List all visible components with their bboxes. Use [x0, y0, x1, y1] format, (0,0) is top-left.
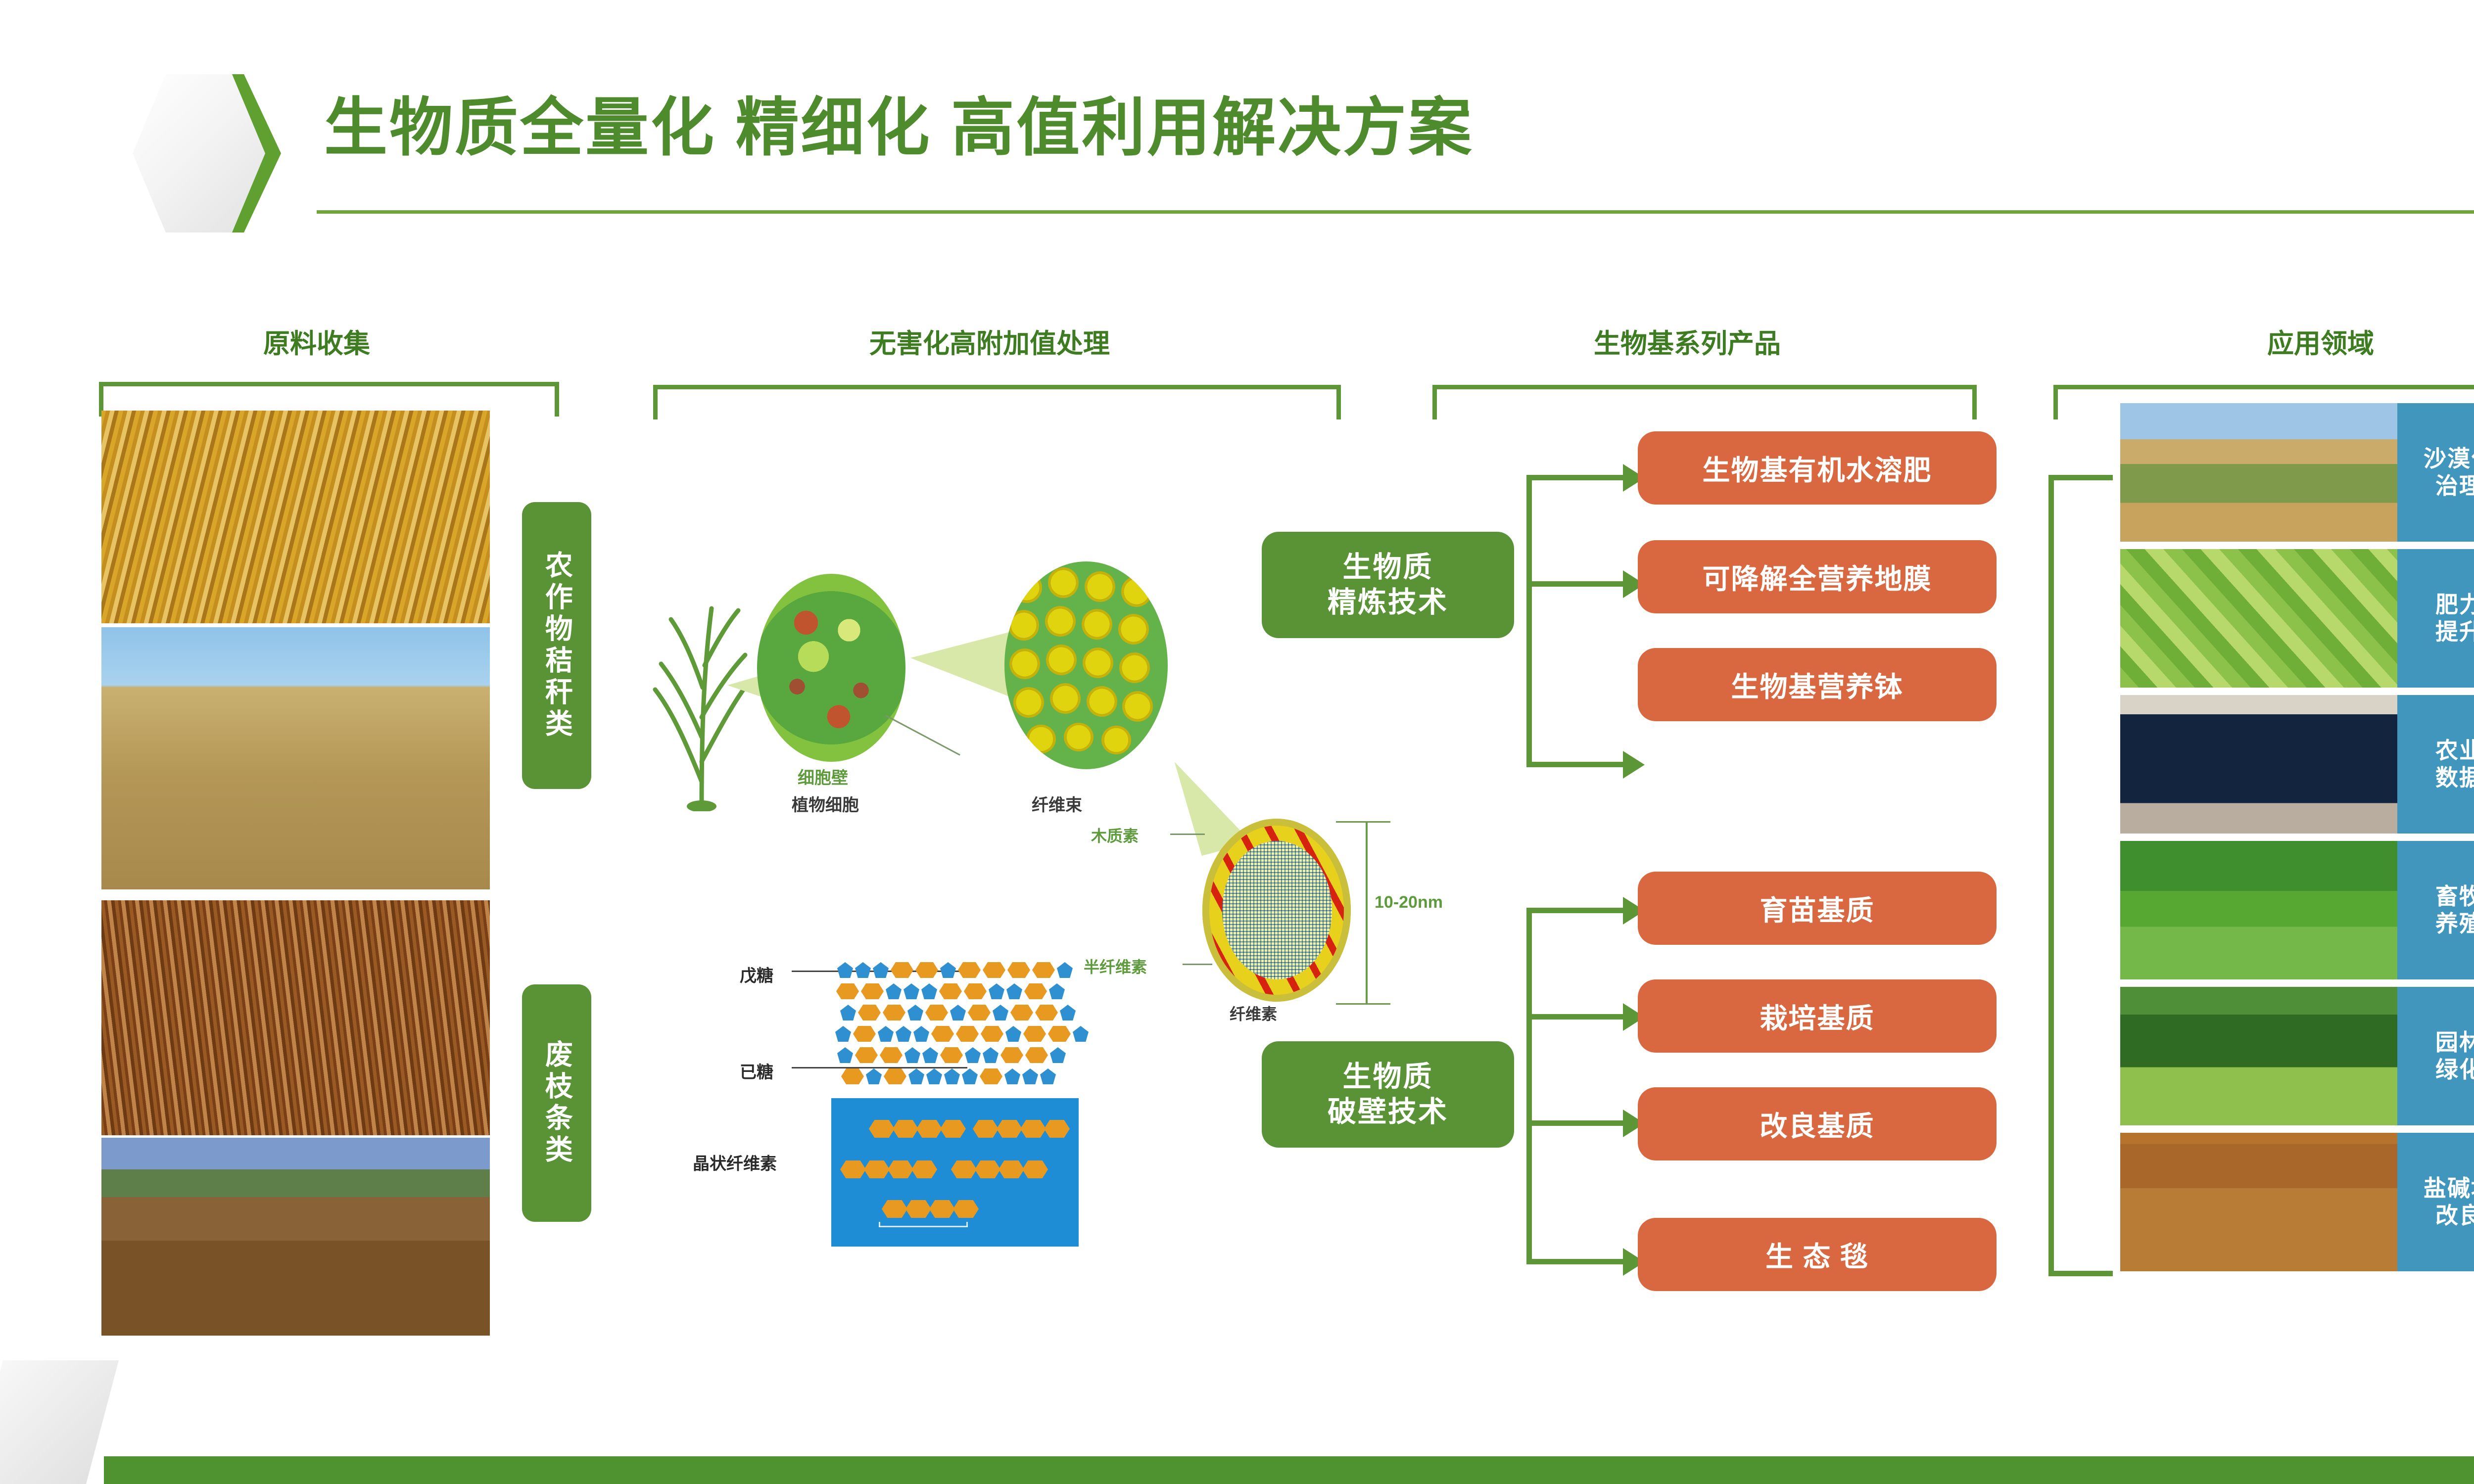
connector-branch-b3	[1526, 1120, 1625, 1126]
plant-cell-illustration	[757, 574, 905, 762]
cell-wall-leader-line	[885, 715, 960, 755]
label-pentose: 戊糖	[740, 962, 773, 986]
photo-baled-straw-field	[101, 627, 490, 889]
photo-landscaped-park	[2120, 987, 2397, 1125]
sugar-chain-row-2	[836, 983, 1067, 999]
grass-plant-icon	[643, 549, 757, 811]
application-tag-fertility: 肥力 提升	[2397, 549, 2474, 688]
connector-trunk-a	[1526, 475, 1532, 767]
app-label-landscaping-line1: 园林	[2435, 1029, 2474, 1056]
bracket-products	[1432, 385, 1977, 419]
connector-branch-b2	[1526, 1014, 1625, 1020]
bracket-application-group	[2048, 475, 2113, 1276]
app-label-agri-data-line1: 农业	[2435, 737, 2474, 764]
app-label-desertification-line2: 治理	[2435, 472, 2474, 500]
sugar-chain-row-1	[837, 962, 1075, 978]
label-dimension: 10-20nm	[1375, 893, 1443, 912]
label-lignin: 木质素	[1091, 824, 1139, 846]
application-row-landscaping[interactable]: 园林 绿化	[2120, 987, 2474, 1125]
connector-branch-b1	[1526, 908, 1625, 913]
product-box-seedling-substrate[interactable]: 育苗基质	[1638, 872, 1997, 945]
product-box-nutrient-pot[interactable]: 生物基营养钵	[1638, 648, 1997, 721]
tech-refining-line2: 精炼技术	[1328, 585, 1448, 620]
fiber-bundle-illustration	[1004, 561, 1168, 769]
tech-wall-breaking-line2: 破壁技术	[1328, 1095, 1448, 1130]
dimension-tick-bottom	[1336, 1003, 1390, 1005]
connector-branch-a2	[1526, 581, 1625, 587]
tech-box-wall-breaking[interactable]: 生物质 破壁技术	[1262, 1041, 1514, 1148]
label-crystalline-cellulose: 晶状纤维素	[693, 1150, 777, 1174]
lignin-leader-line	[1170, 834, 1205, 835]
section-label-products: 生物基系列产品	[1415, 322, 1959, 361]
arrow-a3	[1623, 751, 1645, 779]
application-tag-agri-data: 农业 数据	[2397, 695, 2474, 834]
photo-corn-straw-field	[101, 411, 490, 623]
tag-waste-branches: 废枝条类	[522, 984, 591, 1222]
crystalline-cellulose-illustration	[831, 1098, 1079, 1247]
photo-data-control-room	[2120, 695, 2397, 834]
application-tag-livestock: 畜牧 养殖	[2397, 841, 2474, 979]
application-tag-saline-alkali: 盐碱地 改良	[2397, 1133, 2474, 1271]
label-fiber-bundle: 纤维束	[1032, 791, 1082, 816]
label-plant-cell: 植物细胞	[792, 791, 859, 816]
application-tag-landscaping: 园林 绿化	[2397, 987, 2474, 1125]
application-row-agri-data[interactable]: 农业 数据	[2120, 695, 2474, 834]
section-label-applications: 应用领域	[2113, 322, 2474, 361]
tag-crop-straw: 农作物秸秆类	[522, 502, 591, 789]
section-label-processing: 无害化高附加值处理	[648, 322, 1331, 361]
app-label-livestock-line2: 养殖	[2435, 910, 2474, 937]
tech-refining-line1: 生物质	[1342, 550, 1433, 585]
app-label-saline-alkali-line2: 改良	[2435, 1202, 2474, 1229]
application-row-saline-alkali[interactable]: 盐碱地 改良	[2120, 1133, 2474, 1271]
photo-cabbage-field	[2120, 549, 2397, 688]
product-box-biodegradable-film[interactable]: 可降解全营养地膜	[1638, 540, 1997, 613]
photo-saline-alkali-soil	[2120, 1133, 2397, 1271]
application-tag-desertification: 沙漠化 治理	[2397, 403, 2474, 542]
application-row-fertility[interactable]: 肥力 提升	[2120, 549, 2474, 688]
app-label-saline-alkali-line1: 盐碱地	[2424, 1175, 2474, 1202]
sugar-chain-row-4	[835, 1026, 1091, 1042]
label-hexose: 已糖	[740, 1059, 773, 1083]
application-row-livestock[interactable]: 畜牧 养殖	[2120, 841, 2474, 979]
connector-branch-a1	[1526, 475, 1625, 480]
cellulose-core	[1222, 841, 1332, 979]
tech-wall-breaking-line1: 生物质	[1342, 1060, 1433, 1095]
photo-orchard-branch-collection	[101, 1138, 490, 1336]
connector-branch-b4	[1526, 1259, 1625, 1264]
application-row-desertification[interactable]: 沙漠化 治理	[2120, 403, 2474, 542]
photo-desert-control-site	[2120, 403, 2397, 542]
label-cellulose: 纤维素	[1230, 1002, 1277, 1024]
sugar-chain-row-3	[840, 1005, 1078, 1020]
slide-canvas: 生物质全量化 精细化 高值利用解决方案 原料收集 无害化高附加值处理 生物基系列…	[0, 0, 2474, 1484]
hemicellulose-leader-line	[1183, 964, 1212, 965]
dimension-tick-top	[1336, 821, 1390, 823]
photo-pruned-branches	[101, 900, 490, 1135]
product-box-organic-fertilizer[interactable]: 生物基有机水溶肥	[1638, 431, 1997, 505]
label-cell-wall: 细胞壁	[798, 764, 848, 788]
dimension-bar-vertical	[1366, 821, 1368, 1004]
app-label-landscaping-line2: 绿化	[2435, 1056, 2474, 1083]
connector-trunk-b	[1526, 908, 1532, 1264]
title-underline	[317, 210, 2474, 214]
app-label-fertility-line1: 肥力	[2435, 591, 2474, 618]
tech-box-refining[interactable]: 生物质 精炼技术	[1262, 532, 1514, 638]
sugar-chain-row-5	[837, 1047, 1068, 1063]
app-label-desertification-line1: 沙漠化	[2424, 445, 2474, 472]
app-label-livestock-line1: 畜牧	[2435, 883, 2474, 910]
page-title: 生物质全量化 精细化 高值利用解决方案	[324, 96, 1474, 160]
section-label-raw-collection: 原料收集	[178, 322, 455, 361]
app-label-agri-data-line2: 数据	[2435, 764, 2474, 791]
bottom-green-bar	[104, 1456, 2474, 1484]
product-box-cultivation-substrate[interactable]: 栽培基质	[1638, 979, 1997, 1053]
photo-sheep-grazing-pasture	[2120, 841, 2397, 979]
product-box-ecological-blanket[interactable]: 生 态 毯	[1638, 1218, 1997, 1291]
app-label-fertility-line2: 提升	[2435, 618, 2474, 646]
bracket-processing	[653, 385, 1341, 419]
hexagon-decoration	[133, 74, 281, 232]
sugar-chain-row-6	[841, 1068, 1058, 1084]
bottom-left-decoration	[0, 1360, 119, 1484]
connector-branch-a3	[1526, 762, 1625, 767]
label-hemicellulose: 半纤维素	[1084, 955, 1147, 977]
product-box-improvement-substrate[interactable]: 改良基质	[1638, 1087, 1997, 1160]
